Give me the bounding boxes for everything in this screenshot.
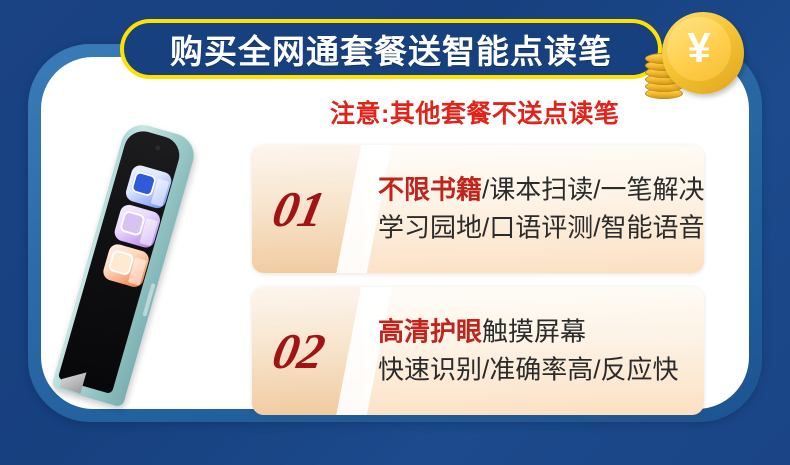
promo-banner: 购买全网通套餐送智能点读笔 ¥ 注意:其他套餐不送点读笔 bbox=[0, 0, 790, 465]
photo-tile-icon bbox=[113, 203, 163, 250]
scan-tile-icon bbox=[124, 163, 174, 210]
notice-text: 注意:其他套餐不送点读笔 bbox=[330, 94, 619, 130]
reading-pen bbox=[51, 120, 199, 408]
book-tile-icon bbox=[101, 242, 151, 289]
card-number: 02 bbox=[269, 326, 330, 376]
card-rest: 触摸屏幕 bbox=[482, 317, 586, 347]
feature-card: 01 不限书籍/课本扫读/一笔解决 学习园地/口语评测/智能语音 bbox=[252, 145, 704, 273]
yen-symbol: ¥ bbox=[687, 27, 710, 69]
card-line-2: 学习园地/口语评测/智能语音 bbox=[378, 209, 694, 247]
card-line-2: 快速识别/准确率高/反应快 bbox=[378, 351, 694, 389]
yen-coin-icon: ¥ bbox=[662, 12, 744, 94]
card-line-1: 不限书籍/课本扫读/一笔解决 bbox=[378, 171, 694, 209]
card-number: 01 bbox=[269, 184, 330, 234]
feature-card-list: 01 不限书籍/课本扫读/一笔解决 学习园地/口语评测/智能语音 02 高清护眼… bbox=[252, 145, 704, 429]
feature-card: 02 高清护眼触摸屏幕 快速识别/准确率高/反应快 bbox=[252, 287, 704, 415]
product-image bbox=[55, 118, 255, 408]
coin-face: ¥ bbox=[667, 17, 731, 81]
page-title: 购买全网通套餐送智能点读笔 bbox=[170, 25, 612, 73]
pen-screen bbox=[58, 127, 184, 394]
card-line-1: 高清护眼触摸屏幕 bbox=[378, 313, 694, 351]
card-text: 不限书籍/课本扫读/一笔解决 学习园地/口语评测/智能语音 bbox=[378, 171, 694, 248]
card-highlight: 高清护眼 bbox=[378, 317, 482, 347]
card-highlight: 不限书籍 bbox=[378, 175, 482, 205]
title-banner: 购买全网通套餐送智能点读笔 bbox=[120, 19, 662, 79]
card-rest: /课本扫读/一笔解决 bbox=[482, 175, 704, 205]
pen-camera-icon bbox=[155, 145, 161, 151]
card-text: 高清护眼触摸屏幕 快速识别/准确率高/反应快 bbox=[378, 313, 694, 390]
coin-graphic: ¥ bbox=[640, 6, 750, 102]
